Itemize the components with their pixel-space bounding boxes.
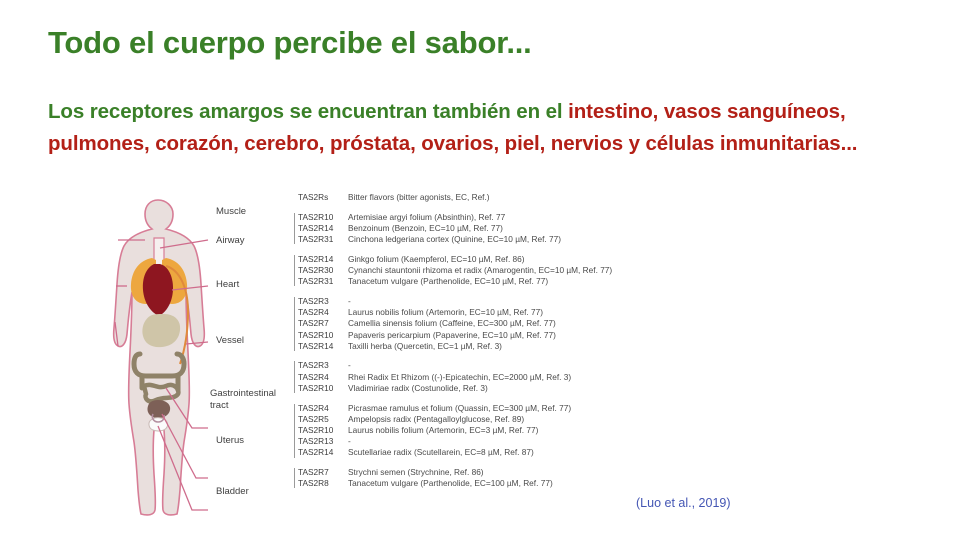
table-row: TAS2R5Ampelopsis radix (Pentagalloylgluc… bbox=[298, 414, 886, 425]
receptor-code-cell: TAS2R4 bbox=[298, 307, 348, 318]
agonist-desc-cell: Strychni semen (Strychnine, Ref. 86) bbox=[348, 467, 886, 478]
agonist-desc-cell: - bbox=[348, 296, 886, 307]
table-row: TAS2R7Camellia sinensis folium (Caffeine… bbox=[298, 318, 886, 329]
subtitle-green-segment: Los receptores amargos se encuentran tam… bbox=[48, 100, 568, 123]
table-row: TAS2R3- bbox=[298, 360, 886, 371]
table-row: TAS2R14Benzoinum (Benzoin, EC=10 µM, Ref… bbox=[298, 223, 886, 234]
receptor-code-cell: TAS2R10 bbox=[298, 425, 348, 436]
agonist-desc-cell: - bbox=[348, 436, 886, 447]
agonist-desc-cell: - bbox=[348, 360, 886, 371]
organ-label-bladder: Bladder bbox=[216, 486, 249, 498]
agonist-desc-cell: Benzoinum (Benzoin, EC=10 µM, Ref. 77) bbox=[348, 223, 886, 234]
bitter-receptor-figure: Muscle Airway Heart Vessel Gastrointesti… bbox=[96, 192, 886, 522]
agonist-desc-cell: Ginkgo folium (Kaempferol, EC=10 µM, Ref… bbox=[348, 254, 886, 265]
organ-label-column: Muscle Airway Heart Vessel Gastrointesti… bbox=[208, 192, 306, 522]
receptor-code-cell: TAS2R31 bbox=[298, 276, 348, 287]
table-row: TAS2R10Vladimiriae radix (Costunolide, R… bbox=[298, 383, 886, 394]
header-code-cell: TAS2Rs bbox=[298, 192, 348, 203]
tas2r-table: TAS2Rs Bitter flavors (bitter agonists, … bbox=[298, 192, 886, 498]
receptor-code-cell: TAS2R7 bbox=[298, 467, 348, 478]
agonist-desc-cell: Scutellariae radix (Scutellarein, EC=8 µ… bbox=[348, 447, 886, 458]
table-row: TAS2R30Cynanchi stauntonii rhizoma et ra… bbox=[298, 265, 886, 276]
subtitle-text: Los receptores amargos se encuentran tam… bbox=[48, 96, 928, 160]
tas2r-group: TAS2R7Strychni semen (Strychnine, Ref. 8… bbox=[298, 467, 886, 489]
receptor-code-cell: TAS2R4 bbox=[298, 403, 348, 414]
organ-label-vessel: Vessel bbox=[216, 335, 244, 347]
page-title: Todo el cuerpo percibe el sabor... bbox=[48, 25, 532, 61]
tas2r-group-list: TAS2R10Artemisiae argyi folium (Absinthi… bbox=[298, 212, 886, 490]
table-row: TAS2R14Ginkgo folium (Kaempferol, EC=10 … bbox=[298, 254, 886, 265]
receptor-code-cell: TAS2R3 bbox=[298, 296, 348, 307]
agonist-desc-cell: Vladimiriae radix (Costunolide, Ref. 3) bbox=[348, 383, 886, 394]
receptor-code-cell: TAS2R10 bbox=[298, 330, 348, 341]
receptor-code-cell: TAS2R4 bbox=[298, 372, 348, 383]
table-row: TAS2R8Tanacetum vulgare (Parthenolide, E… bbox=[298, 478, 886, 489]
receptor-code-cell: TAS2R5 bbox=[298, 414, 348, 425]
receptor-code-cell: TAS2R3 bbox=[298, 360, 348, 371]
table-row: TAS2R31Tanacetum vulgare (Parthenolide, … bbox=[298, 276, 886, 287]
slide: Todo el cuerpo percibe el sabor... Los r… bbox=[0, 0, 960, 540]
receptor-code-cell: TAS2R30 bbox=[298, 265, 348, 276]
organ-label-uterus: Uterus bbox=[216, 435, 244, 447]
table-row: TAS2R10Laurus nobilis folium (Artemorin,… bbox=[298, 425, 886, 436]
tas2r-group: TAS2R14Ginkgo folium (Kaempferol, EC=10 … bbox=[298, 254, 886, 288]
agonist-desc-cell: Cynanchi stauntonii rhizoma et radix (Am… bbox=[348, 265, 886, 276]
table-row: TAS2R10Papaveris pericarpium (Papaverine… bbox=[298, 330, 886, 341]
table-row: TAS2R13- bbox=[298, 436, 886, 447]
citation: (Luo et al., 2019) bbox=[636, 496, 731, 510]
tas2r-group: TAS2R3-TAS2R4Laurus nobilis folium (Arte… bbox=[298, 296, 886, 352]
receptor-code-cell: TAS2R13 bbox=[298, 436, 348, 447]
tas2r-group: TAS2R3-TAS2R4Rhei Radix Et Rhizom ((-)-E… bbox=[298, 360, 886, 394]
receptor-code-cell: TAS2R8 bbox=[298, 478, 348, 489]
table-row: TAS2R14Scutellariae radix (Scutellarein,… bbox=[298, 447, 886, 458]
agonist-desc-cell: Laurus nobilis folium (Artemorin, EC=10 … bbox=[348, 307, 886, 318]
organ-label-muscle: Muscle bbox=[216, 206, 246, 218]
agonist-desc-cell: Tanacetum vulgare (Parthenolide, EC=10 µ… bbox=[348, 276, 886, 287]
table-row: TAS2R31Cinchona ledgeriana cortex (Quini… bbox=[298, 234, 886, 245]
tas2r-group: TAS2R10Artemisiae argyi folium (Absinthi… bbox=[298, 212, 886, 246]
organ-label-gastrointestinal-tract: Gastrointestinal tract bbox=[210, 388, 294, 411]
table-row: TAS2R4Rhei Radix Et Rhizom ((-)-Epicatec… bbox=[298, 372, 886, 383]
agonist-desc-cell: Camellia sinensis folium (Caffeine, EC=3… bbox=[348, 318, 886, 329]
table-row: TAS2R3- bbox=[298, 296, 886, 307]
receptor-code-cell: TAS2R14 bbox=[298, 341, 348, 352]
agonist-desc-cell: Taxilli herba (Quercetin, EC=1 µM, Ref. … bbox=[348, 341, 886, 352]
table-row: TAS2R4Picrasmae ramulus et folium (Quass… bbox=[298, 403, 886, 414]
receptor-code-cell: TAS2R14 bbox=[298, 223, 348, 234]
table-row: TAS2R4Laurus nobilis folium (Artemorin, … bbox=[298, 307, 886, 318]
table-row: TAS2R7Strychni semen (Strychnine, Ref. 8… bbox=[298, 467, 886, 478]
tas2r-header-group: TAS2Rs Bitter flavors (bitter agonists, … bbox=[298, 192, 886, 203]
agonist-desc-cell: Picrasmae ramulus et folium (Quassin, EC… bbox=[348, 403, 886, 414]
receptor-code-cell: TAS2R10 bbox=[298, 212, 348, 223]
human-body-diagram bbox=[96, 192, 226, 522]
table-row: TAS2R14Taxilli herba (Quercetin, EC=1 µM… bbox=[298, 341, 886, 352]
receptor-code-cell: TAS2R7 bbox=[298, 318, 348, 329]
agonist-desc-cell: Rhei Radix Et Rhizom ((-)-Epicatechin, E… bbox=[348, 372, 886, 383]
table-header-row: TAS2Rs Bitter flavors (bitter agonists, … bbox=[298, 192, 886, 203]
header-desc-cell: Bitter flavors (bitter agonists, EC, Ref… bbox=[348, 192, 886, 203]
organ-label-heart: Heart bbox=[216, 279, 239, 291]
receptor-code-cell: TAS2R31 bbox=[298, 234, 348, 245]
agonist-desc-cell: Papaveris pericarpium (Papaverine, EC=10… bbox=[348, 330, 886, 341]
table-row: TAS2R10Artemisiae argyi folium (Absinthi… bbox=[298, 212, 886, 223]
agonist-desc-cell: Cinchona ledgeriana cortex (Quinine, EC=… bbox=[348, 234, 886, 245]
agonist-desc-cell: Ampelopsis radix (Pentagalloylglucose, R… bbox=[348, 414, 886, 425]
agonist-desc-cell: Artemisiae argyi folium (Absinthin), Ref… bbox=[348, 212, 886, 223]
receptor-code-cell: TAS2R14 bbox=[298, 254, 348, 265]
agonist-desc-cell: Laurus nobilis folium (Artemorin, EC=3 µ… bbox=[348, 425, 886, 436]
receptor-code-cell: TAS2R10 bbox=[298, 383, 348, 394]
receptor-code-cell: TAS2R14 bbox=[298, 447, 348, 458]
tas2r-group: TAS2R4Picrasmae ramulus et folium (Quass… bbox=[298, 403, 886, 459]
agonist-desc-cell: Tanacetum vulgare (Parthenolide, EC=100 … bbox=[348, 478, 886, 489]
organ-label-airway: Airway bbox=[216, 235, 245, 247]
